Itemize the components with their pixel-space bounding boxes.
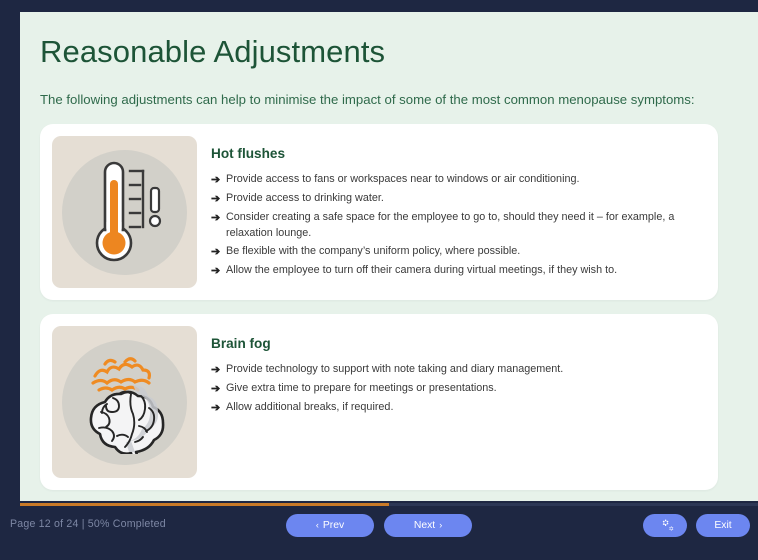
arrow-icon: ➔ [211, 191, 226, 207]
list-item-text: Be flexible with the company’s uniform p… [226, 244, 694, 260]
arrow-icon: ➔ [211, 362, 226, 378]
progress-bar-fill [20, 503, 389, 506]
card-media-hot-flushes [52, 136, 197, 288]
list-item: ➔ Be flexible with the company’s uniform… [211, 244, 694, 260]
prev-button[interactable]: ‹ Prev [286, 514, 374, 537]
bullet-list-brain-fog: ➔ Provide technology to support with not… [211, 362, 694, 416]
chevron-right-icon: › [439, 521, 442, 530]
presentation-player: Reasonable Adjustments The following adj… [0, 0, 758, 560]
list-item: ➔ Allow additional breaks, if required. [211, 400, 694, 416]
slide-content: Reasonable Adjustments The following adj… [20, 12, 758, 490]
list-item: ➔ Allow the employee to turn off their c… [211, 263, 694, 279]
utility-controls: Exit [643, 514, 750, 537]
card-body-hot-flushes: Hot flushes ➔ Provide access to fans or … [197, 136, 706, 286]
adjustment-card-hot-flushes: Hot flushes ➔ Provide access to fans or … [40, 124, 718, 300]
page-title: Reasonable Adjustments [40, 34, 738, 70]
chevron-left-icon: ‹ [316, 521, 319, 530]
next-button[interactable]: Next › [384, 514, 472, 537]
list-item-text: Provide technology to support with note … [226, 362, 694, 378]
prev-button-label: Prev [323, 520, 344, 531]
slide-canvas: Reasonable Adjustments The following adj… [20, 12, 758, 501]
card-heading: Brain fog [211, 336, 694, 351]
card-heading: Hot flushes [211, 146, 694, 161]
list-item-text: Give extra time to prepare for meetings … [226, 381, 694, 397]
exit-button-label: Exit [714, 520, 731, 531]
list-item: ➔ Provide access to drinking water. [211, 191, 694, 207]
next-button-label: Next [414, 520, 435, 531]
list-item: ➔ Give extra time to prepare for meeting… [211, 381, 694, 397]
list-item: ➔ Provide access to fans or workspaces n… [211, 172, 694, 188]
exit-button[interactable]: Exit [696, 514, 750, 537]
card-body-brain-fog: Brain fog ➔ Provide technology to suppor… [197, 326, 706, 422]
player-footer: Page 12 of 24 | 50% Completed ‹ Prev Nex… [0, 501, 758, 560]
arrow-icon: ➔ [211, 244, 226, 260]
media-circle [62, 150, 187, 275]
list-item-text: Allow additional breaks, if required. [226, 400, 694, 416]
navigation-controls: ‹ Prev Next › [286, 514, 472, 537]
settings-button[interactable] [643, 514, 687, 537]
list-item: ➔ Consider creating a safe space for the… [211, 210, 694, 242]
bullet-list-hot-flushes: ➔ Provide access to fans or workspaces n… [211, 172, 694, 279]
list-item-text: Allow the employee to turn off their cam… [226, 263, 694, 279]
progress-bar-track[interactable] [20, 503, 758, 506]
media-circle [62, 340, 187, 465]
arrow-icon: ➔ [211, 400, 226, 416]
gears-icon [657, 519, 674, 533]
page-subtitle: The following adjustments can help to mi… [40, 91, 705, 109]
adjustment-card-brain-fog: Brain fog ➔ Provide technology to suppor… [40, 314, 718, 490]
thermometer-icon [83, 160, 167, 264]
page-status-text: Page 12 of 24 | 50% Completed [10, 518, 166, 530]
arrow-icon: ➔ [211, 172, 226, 188]
arrow-icon: ➔ [211, 263, 226, 279]
card-media-brain-fog [52, 326, 197, 478]
arrow-icon: ➔ [211, 210, 226, 226]
list-item-text: Provide access to drinking water. [226, 191, 694, 207]
list-item-text: Provide access to fans or workspaces nea… [226, 172, 694, 188]
list-item-text: Consider creating a safe space for the e… [226, 210, 694, 242]
brain-icon [75, 350, 175, 454]
arrow-icon: ➔ [211, 381, 226, 397]
list-item: ➔ Provide technology to support with not… [211, 362, 694, 378]
